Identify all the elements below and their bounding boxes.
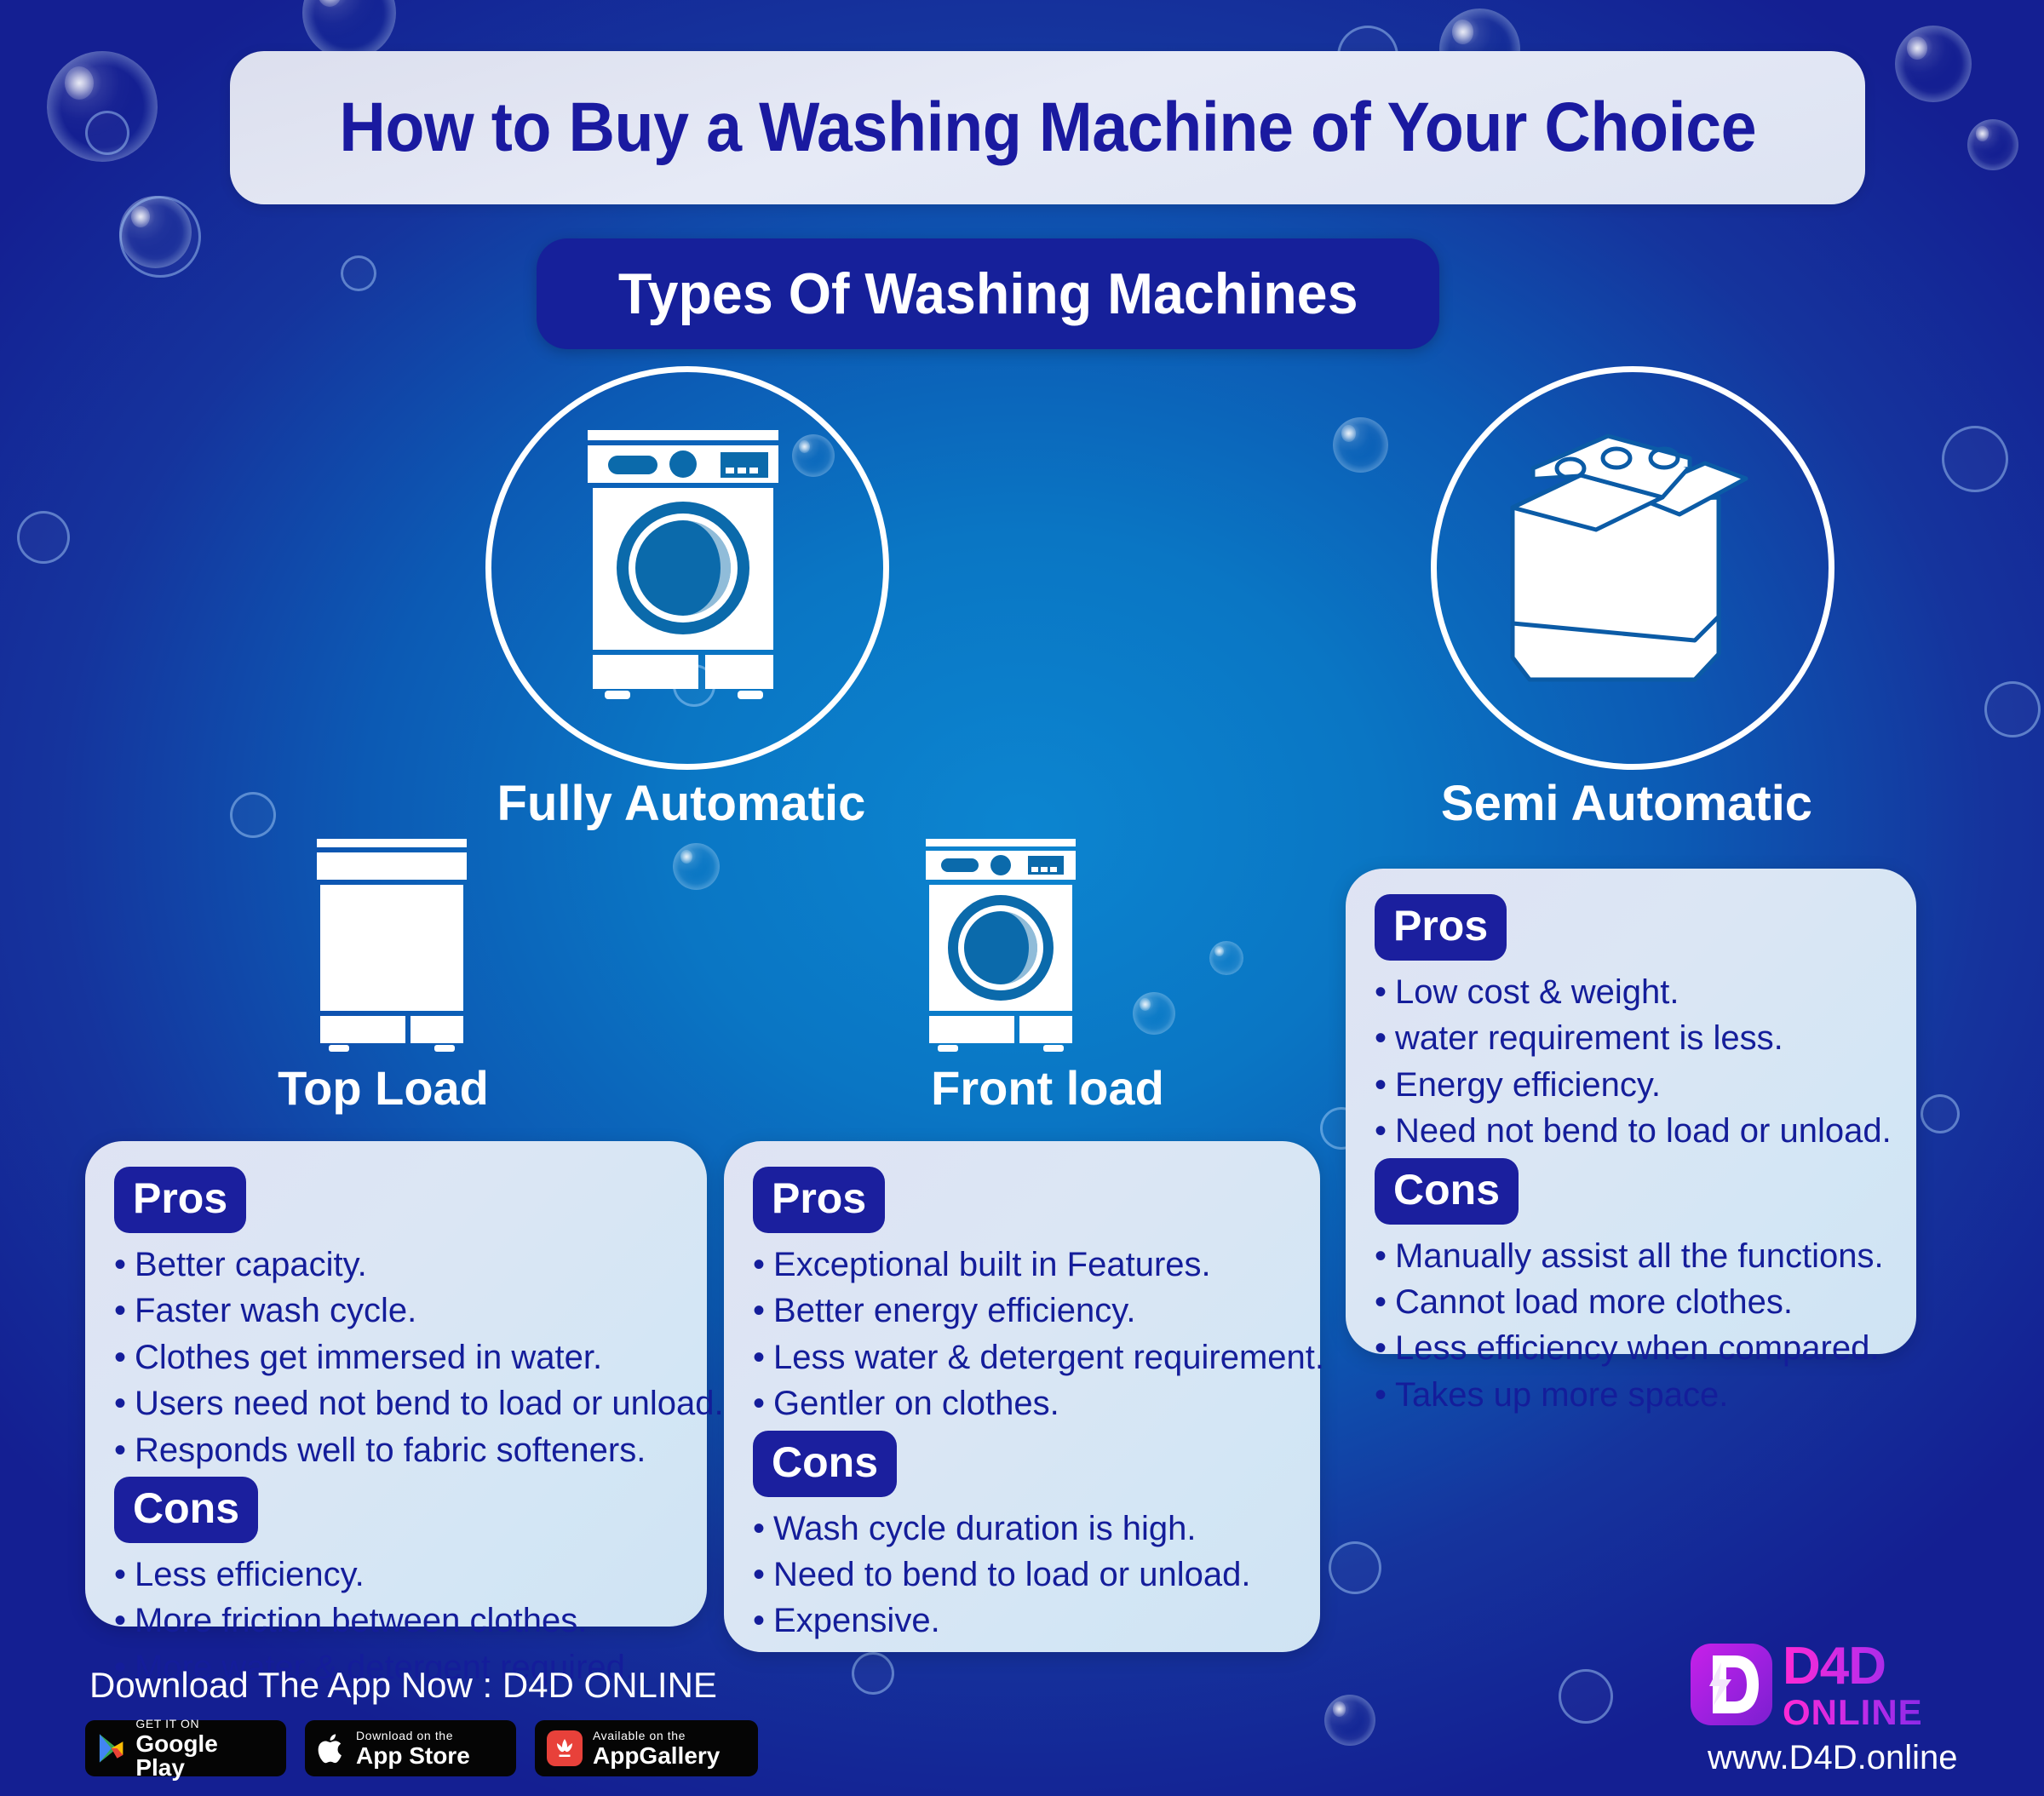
cons-badge: Cons xyxy=(753,1431,897,1497)
list-item: •Low cost & weight. xyxy=(1375,969,1887,1015)
bubble-decoration xyxy=(1333,417,1388,473)
list-item: •water requirement is less. xyxy=(1375,1015,1887,1061)
bullet-icon: • xyxy=(753,1602,765,1639)
bullet-icon: • xyxy=(753,1385,765,1422)
huawei-flower-icon xyxy=(554,1737,576,1759)
bubble-decoration xyxy=(1967,119,2018,170)
pros-badge: Pros xyxy=(1375,894,1507,961)
badge-bottom-label: App Store xyxy=(356,1744,470,1768)
list-item-text: Wash cycle duration is high. xyxy=(773,1510,1197,1547)
list-item-text: Faster wash cycle. xyxy=(135,1292,416,1329)
list-item: •Users need not bend to load or unload. xyxy=(114,1380,678,1426)
semi-automatic-card: Pros •Low cost & weight. •water requirem… xyxy=(1346,869,1916,1354)
d4d-wordmark: D4D ONLINE xyxy=(1783,1640,1923,1730)
bubble-ring-decoration xyxy=(17,511,70,564)
bullet-icon: • xyxy=(114,1339,126,1376)
google-play-badge[interactable]: GET IT ON Google Play xyxy=(85,1720,286,1776)
semi-automatic-label: Semi Automatic xyxy=(1405,775,1848,832)
list-item-text: Expensive. xyxy=(773,1602,940,1639)
pros-badge: Pros xyxy=(753,1167,885,1233)
badge-bottom-label: Google Play xyxy=(135,1732,271,1780)
bullet-icon: • xyxy=(114,1602,126,1639)
bubble-decoration xyxy=(1133,992,1175,1035)
twin-tub-washer-icon xyxy=(1482,426,1771,707)
badge-top-label: GET IT ON xyxy=(135,1718,271,1730)
title-banner: How to Buy a Washing Machine of Your Cho… xyxy=(230,51,1865,204)
list-item: •Gentler on clothes. xyxy=(753,1380,1291,1426)
list-item-text: Exceptional built in Features. xyxy=(773,1246,1211,1283)
list-item-text: Better energy efficiency. xyxy=(773,1292,1135,1329)
section-subtitle: Types Of Washing Machines xyxy=(618,261,1358,327)
front-load-label: Front load xyxy=(852,1060,1243,1116)
list-item-text: water requirement is less. xyxy=(1395,1019,1783,1057)
bubble-ring-decoration xyxy=(230,792,276,838)
bullet-icon: • xyxy=(114,1292,126,1329)
list-item: •Need not bend to load or unload. xyxy=(1375,1108,1887,1154)
huawei-icon xyxy=(547,1730,583,1766)
bullet-icon: • xyxy=(114,1246,126,1283)
bubble-decoration xyxy=(119,196,192,268)
bullet-icon: • xyxy=(1375,1112,1387,1150)
bullet-icon: • xyxy=(753,1510,765,1547)
bubble-ring-decoration xyxy=(341,255,376,291)
bubble-ring-decoration xyxy=(852,1652,894,1695)
list-item-text: Need not bend to load or unload. xyxy=(1395,1112,1892,1150)
bullet-icon: • xyxy=(753,1246,765,1283)
list-item: •Responds well to fabric softeners. xyxy=(114,1427,678,1473)
list-item: •Less water & detergent requirement. xyxy=(753,1334,1291,1380)
top-load-card: Pros •Better capacity. •Faster wash cycl… xyxy=(85,1141,707,1627)
bubble-decoration xyxy=(1324,1695,1375,1746)
bullet-icon: • xyxy=(753,1339,765,1376)
list-item: •Need to bend to load or unload. xyxy=(753,1552,1291,1598)
list-item-text: Less efficiency when compared. xyxy=(1395,1329,1879,1367)
bubble-ring-decoration xyxy=(119,196,201,278)
list-item-text: More friction between clothes. xyxy=(135,1602,587,1639)
bubble-decoration xyxy=(1895,26,1972,102)
bubble-ring-decoration xyxy=(1942,426,2008,492)
list-item-text: Energy efficiency. xyxy=(1395,1066,1661,1104)
list-item-text: Less efficiency. xyxy=(135,1556,365,1593)
list-item-text: Responds well to fabric softeners. xyxy=(135,1432,646,1469)
bubble-ring-decoration xyxy=(1329,1541,1381,1594)
bubble-decoration xyxy=(673,843,720,890)
front-load-washer-icon xyxy=(924,839,1077,1052)
d4d-text: D4D xyxy=(1783,1640,1923,1693)
d4d-logo[interactable]: D4D ONLINE www.D4D.online xyxy=(1691,1644,1980,1780)
semi-automatic-cons-list: •Manually assist all the functions. •Can… xyxy=(1375,1233,1887,1419)
list-item: •Manually assist all the functions. xyxy=(1375,1233,1887,1279)
bullet-icon: • xyxy=(1375,1283,1387,1321)
list-item-text: Need to bend to load or unload. xyxy=(773,1556,1250,1593)
bubble-decoration xyxy=(1209,941,1243,975)
list-item-text: Cannot load more clothes. xyxy=(1395,1283,1793,1321)
bubble-ring-decoration xyxy=(1559,1669,1613,1724)
bubble-ring-decoration xyxy=(1984,681,2041,737)
bullet-icon: • xyxy=(114,1385,126,1422)
app-store-badge[interactable]: Download on the App Store xyxy=(305,1720,516,1776)
list-item: •Clothes get immersed in water. xyxy=(114,1334,678,1380)
bubble-ring-decoration xyxy=(85,111,129,155)
bullet-icon: • xyxy=(1375,1066,1387,1104)
list-item: •Better energy efficiency. xyxy=(753,1288,1291,1334)
badge-bottom-label: AppGallery xyxy=(593,1744,720,1768)
bullet-icon: • xyxy=(1375,1376,1387,1414)
list-item: •Expensive. xyxy=(753,1598,1291,1644)
list-item: •Less efficiency. xyxy=(114,1552,678,1598)
bullet-icon: • xyxy=(1375,973,1387,1011)
semi-automatic-pros-list: •Low cost & weight. •water requirement i… xyxy=(1375,969,1887,1155)
fully-automatic-label: Fully Automatic xyxy=(485,775,877,832)
app-gallery-badge[interactable]: Available on the AppGallery xyxy=(535,1720,758,1776)
front-load-cons-list: •Wash cycle duration is high. •Need to b… xyxy=(753,1506,1291,1644)
bullet-icon: • xyxy=(1375,1237,1387,1275)
section-subtitle-pill: Types Of Washing Machines xyxy=(537,238,1439,349)
d4d-mark-glyph xyxy=(1691,1644,1772,1725)
online-text: ONLINE xyxy=(1783,1695,1923,1730)
google-play-icon xyxy=(97,1732,125,1764)
download-cta-text: Download The App Now : D4D ONLINE xyxy=(89,1665,717,1706)
list-item-text: Gentler on clothes. xyxy=(773,1385,1059,1422)
list-item: •Takes up more space. xyxy=(1375,1372,1887,1418)
website-url: www.D4D.online xyxy=(1708,1739,1957,1777)
bullet-icon: • xyxy=(114,1556,126,1593)
list-item-text: Clothes get immersed in water. xyxy=(135,1339,602,1376)
list-item: •Wash cycle duration is high. xyxy=(753,1506,1291,1552)
list-item: •Exceptional built in Features. xyxy=(753,1242,1291,1288)
list-item: •Better capacity. xyxy=(114,1242,678,1288)
front-load-washer-icon xyxy=(581,430,785,703)
badge-top-label: Available on the xyxy=(593,1730,720,1741)
bubble-decoration xyxy=(47,51,158,162)
list-item: •Energy efficiency. xyxy=(1375,1062,1887,1108)
list-item-text: Low cost & weight. xyxy=(1395,973,1679,1011)
top-load-label: Top Load xyxy=(213,1060,554,1116)
bubble-ring-decoration xyxy=(1921,1094,1960,1133)
bullet-icon: • xyxy=(1375,1329,1387,1367)
pros-badge: Pros xyxy=(114,1167,246,1233)
apple-icon xyxy=(317,1731,346,1765)
front-load-pros-list: •Exceptional built in Features. •Better … xyxy=(753,1242,1291,1427)
list-item-text: Better capacity. xyxy=(135,1246,367,1283)
list-item-text: Users need not bend to load or unload. xyxy=(135,1385,724,1422)
bullet-icon: • xyxy=(753,1292,765,1329)
list-item-text: Takes up more space. xyxy=(1395,1376,1728,1414)
list-item: •More friction between clothes. xyxy=(114,1598,678,1644)
list-item: •Cannot load more clothes. xyxy=(1375,1279,1887,1325)
cons-badge: Cons xyxy=(1375,1158,1519,1225)
page-title: How to Buy a Washing Machine of Your Cho… xyxy=(339,88,1756,168)
bullet-icon: • xyxy=(114,1432,126,1469)
list-item: •Faster wash cycle. xyxy=(114,1288,678,1334)
app-store-badges: GET IT ON Google Play Download on the Ap… xyxy=(85,1720,758,1776)
d4d-logo-icon xyxy=(1691,1644,1772,1725)
list-item: •Less efficiency when compared. xyxy=(1375,1325,1887,1371)
list-item-text: Less water & detergent requirement. xyxy=(773,1339,1324,1376)
front-load-card: Pros •Exceptional built in Features. •Be… xyxy=(724,1141,1320,1652)
bullet-icon: • xyxy=(753,1556,765,1593)
cons-badge: Cons xyxy=(114,1477,258,1543)
list-item-text: Manually assist all the functions. xyxy=(1395,1237,1884,1275)
bullet-icon: • xyxy=(1375,1019,1387,1057)
top-load-washer-icon xyxy=(315,839,468,1052)
top-load-pros-list: •Better capacity. •Faster wash cycle. •C… xyxy=(114,1242,678,1473)
infographic-canvas: How to Buy a Washing Machine of Your Cho… xyxy=(0,0,2044,1796)
badge-top-label: Download on the xyxy=(356,1730,470,1741)
